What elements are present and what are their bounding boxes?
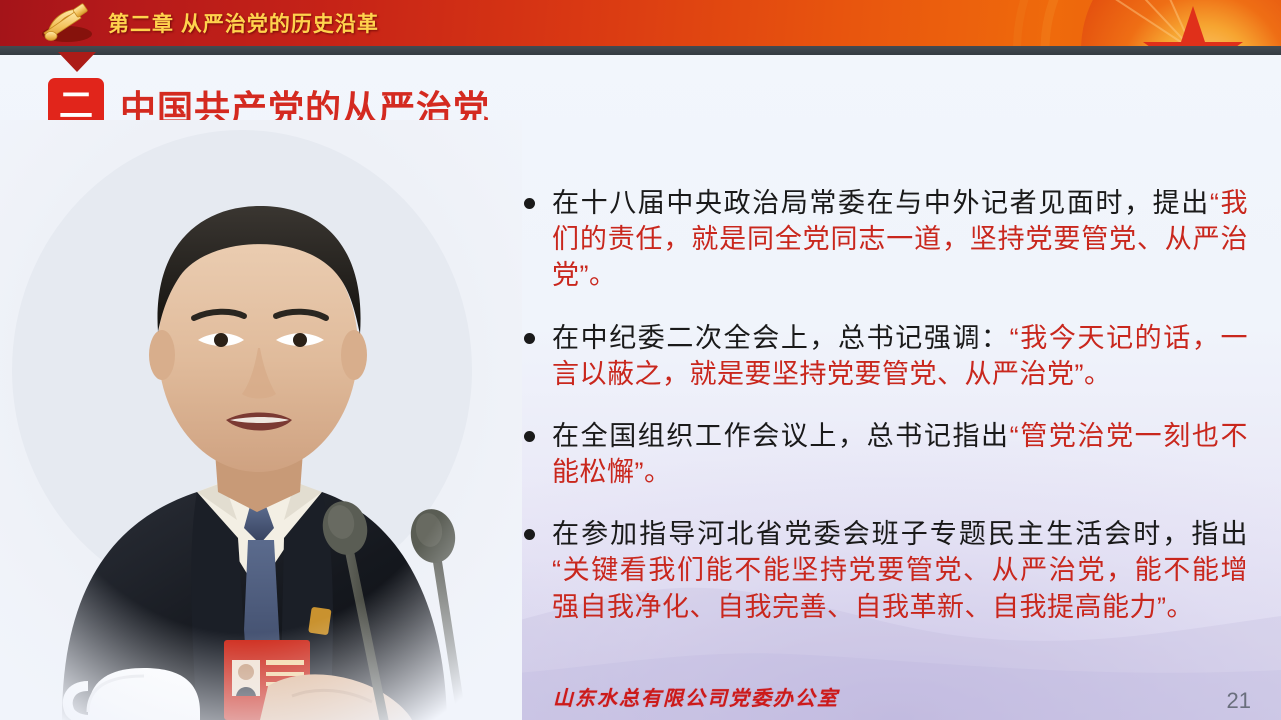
bullet-dot-icon — [524, 198, 535, 209]
list-item: 在十八届中央政治局常委在与中外记者见面时，提出“我们的责任，就是同全党同志一道，… — [524, 185, 1248, 294]
bullet-text: 在十八届中央政治局常委在与中外记者见面时，提出“我们的责任，就是同全党同志一道，… — [552, 185, 1248, 294]
list-item: 在参加指导河北省党委会班子专题民主生活会时，指出“关键看我们能不能坚持党要管党、… — [524, 516, 1248, 625]
presentation-slide: 第二章 从严治党的历史沿革 二 中国共产党的从严治党 — [0, 0, 1281, 720]
section-number: 二 — [59, 89, 93, 123]
bullet-dot-icon — [524, 333, 535, 344]
bullet-text: 在全国组织工作会议上，总书记指出“管党治党一刻也不能松懈”。 — [552, 418, 1248, 490]
bullet-dot-icon — [524, 431, 535, 442]
bullet-list: 在十八届中央政治局常委在与中外记者见面时，提出“我们的责任，就是同全党同志一道，… — [524, 185, 1248, 651]
bullet-text: 在参加指导河北省党委会班子专题民主生活会时，指出“关键看我们能不能坚持党要管党、… — [552, 516, 1248, 625]
bullet-tail: 。 — [644, 457, 672, 487]
bullet-lead: 在参加指导河北省党委会班子专题民主生活会时，指出 — [552, 519, 1248, 549]
bullet-tail: 。 — [589, 260, 617, 290]
organization-footer: 山东水总有限公司党委办公室 — [553, 682, 839, 711]
bullet-tail: 。 — [1084, 359, 1112, 389]
bullet-lead: 在全国组织工作会议上，总书记指出 — [552, 421, 1010, 451]
bullet-quote: “关键看我们能不能坚持党要管党、从严治党，能不能增强自我净化、自我完善、自我革新… — [552, 555, 1248, 621]
chapter-title: 第二章 从严治党的历史沿革 — [108, 8, 379, 38]
bullet-text: 在中纪委二次全会上，总书记强调：“我今天记的话，一言以蔽之，就是要坚持党要管党、… — [552, 320, 1248, 392]
official-portrait-photo — [0, 120, 522, 720]
bullet-dot-icon — [524, 529, 535, 540]
page-number: 21 — [1227, 688, 1251, 714]
bullet-lead: 在十八届中央政治局常委在与中外记者见面时，提出 — [552, 188, 1210, 218]
header-divider — [0, 46, 1281, 55]
header-bar: 第二章 从严治党的历史沿革 — [0, 0, 1281, 46]
hammer-sickle-emblem-icon — [34, 3, 100, 43]
bullet-tail: 。 — [1167, 592, 1195, 622]
bullet-lead: 在中纪委二次全会上，总书记强调： — [552, 323, 1010, 353]
list-item: 在全国组织工作会议上，总书记指出“管党治党一刻也不能松懈”。 — [524, 418, 1248, 490]
ribbon-tail-icon — [58, 52, 96, 72]
list-item: 在中纪委二次全会上，总书记强调：“我今天记的话，一言以蔽之，就是要坚持党要管党、… — [524, 320, 1248, 392]
